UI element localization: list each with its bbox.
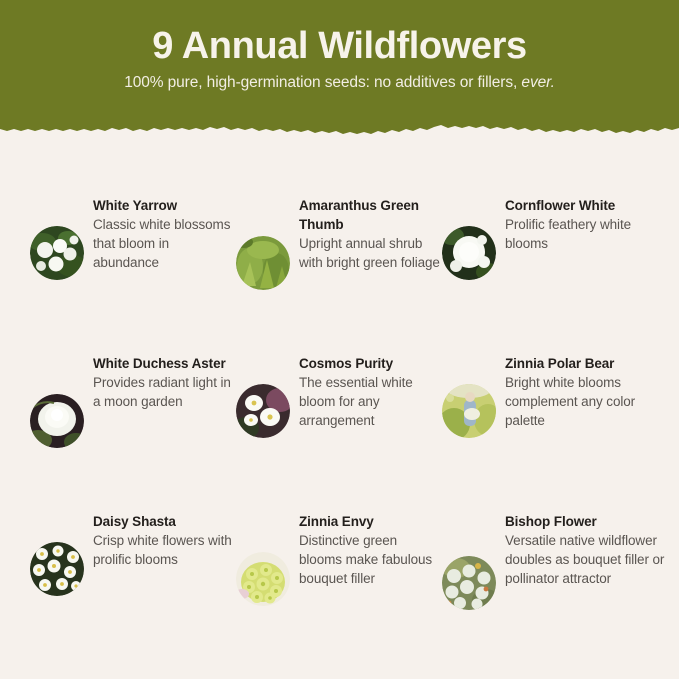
list-item-description: Provides radiant light in a moon garden	[93, 373, 236, 411]
white-duchess-aster-thumbnail-icon	[30, 394, 84, 448]
list-item[interactable]: Daisy Shasta Crisp white flowers with pr…	[30, 512, 236, 662]
list-item-title: Zinnia Envy	[299, 512, 442, 531]
amaranthus-green-thumb-thumbnail-icon	[236, 236, 290, 290]
list-item-text: Zinnia Polar Bear Bright white blooms co…	[505, 354, 676, 431]
zinnia-polar-bear-thumbnail-icon	[442, 384, 496, 438]
list-item-description: Distinctive green blooms make fabulous b…	[299, 531, 442, 588]
list-item-description: The essential white bloom for any arrang…	[299, 373, 442, 430]
list-item-text: Cosmos Purity The essential white bloom …	[299, 354, 442, 431]
list-item-text: Bishop Flower Versatile native wildflowe…	[505, 512, 676, 589]
list-item-text: Amaranthus Green Thumb Upright annual sh…	[299, 196, 442, 273]
zinnia-envy-thumbnail-icon	[236, 552, 290, 606]
list-item[interactable]: Cornflower White Prolific feathery white…	[442, 196, 676, 354]
list-item-title: Daisy Shasta	[93, 512, 236, 531]
list-item[interactable]: Amaranthus Green Thumb Upright annual sh…	[236, 196, 442, 354]
white-yarrow-thumbnail-icon	[30, 226, 84, 280]
list-item[interactable]: Bishop Flower Versatile native wildflowe…	[442, 512, 676, 662]
page-subtitle: 100% pure, high-germination seeds: no ad…	[0, 74, 679, 92]
list-item[interactable]: Cosmos Purity The essential white bloom …	[236, 354, 442, 512]
cosmos-purity-thumbnail-icon	[236, 384, 290, 438]
list-item[interactable]: Zinnia Polar Bear Bright white blooms co…	[442, 354, 676, 512]
list-item-text: White Duchess Aster Provides radiant lig…	[93, 354, 236, 411]
list-item-text: Daisy Shasta Crisp white flowers with pr…	[93, 512, 236, 569]
daisy-shasta-thumbnail-icon	[30, 542, 84, 596]
page-title: 9 Annual Wildflowers	[0, 24, 679, 69]
list-item[interactable]: White Yarrow Classic white blossoms that…	[30, 196, 236, 354]
list-item-title: Amaranthus Green Thumb	[299, 196, 442, 234]
banner-text-block: 9 Annual Wildflowers 100% pure, high-ger…	[0, 0, 679, 92]
list-item-description: Upright annual shrub with bright green f…	[299, 234, 442, 272]
list-item-description: Crisp white flowers with prolific blooms	[93, 531, 236, 569]
list-item-text: Cornflower White Prolific feathery white…	[505, 196, 676, 253]
list-item[interactable]: Zinnia Envy Distinctive green blooms mak…	[236, 512, 442, 662]
cornflower-white-thumbnail-icon	[442, 226, 496, 280]
list-item-title: Zinnia Polar Bear	[505, 354, 676, 373]
list-item-description: Bright white blooms complement any color…	[505, 373, 676, 430]
wildflower-grid: White Yarrow Classic white blossoms that…	[0, 196, 679, 662]
list-item-text: White Yarrow Classic white blossoms that…	[93, 196, 236, 273]
list-item[interactable]: White Duchess Aster Provides radiant lig…	[30, 354, 236, 512]
list-item-description: Versatile native wildflower doubles as b…	[505, 531, 676, 588]
list-item-title: White Duchess Aster	[93, 354, 236, 373]
list-item-title: Cosmos Purity	[299, 354, 442, 373]
list-item-title: Bishop Flower	[505, 512, 676, 531]
list-item-description: Prolific feathery white blooms	[505, 215, 676, 253]
list-item-text: Zinnia Envy Distinctive green blooms mak…	[299, 512, 442, 589]
subtitle-emphasis-text: ever.	[521, 74, 554, 91]
subtitle-main-text: 100% pure, high-germination seeds: no ad…	[124, 74, 517, 91]
header-banner: 9 Annual Wildflowers 100% pure, high-ger…	[0, 0, 679, 140]
list-item-description: Classic white blossoms that bloom in abu…	[93, 215, 236, 272]
list-item-title: Cornflower White	[505, 196, 676, 215]
list-item-title: White Yarrow	[93, 196, 236, 215]
bishop-flower-thumbnail-icon	[442, 556, 496, 610]
